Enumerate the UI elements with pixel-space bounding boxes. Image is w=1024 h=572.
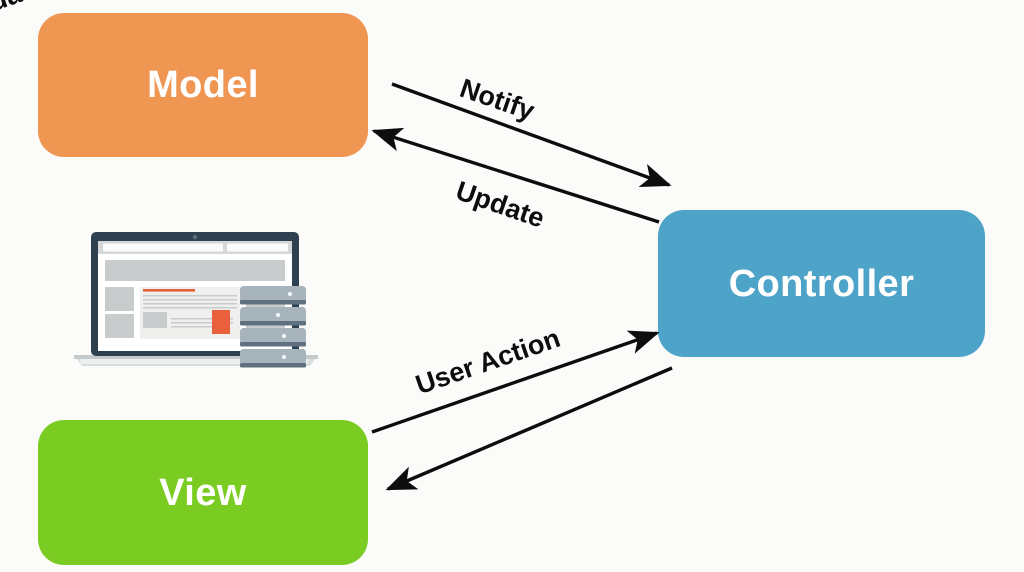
- edge-label-notify: Notify: [456, 73, 538, 127]
- node-model-label: Model: [147, 66, 259, 104]
- node-controller-label: Controller: [729, 265, 915, 303]
- edge-label-user-action: User Action: [412, 323, 564, 401]
- edge-label-update-top: Update: [452, 175, 549, 234]
- node-model[interactable]: Model: [38, 13, 368, 157]
- diagram-canvas: Model Controller View: [0, 0, 1024, 572]
- node-controller[interactable]: Controller: [658, 210, 985, 357]
- node-view[interactable]: View: [38, 420, 368, 565]
- laptop-server-illustration: [72, 224, 338, 376]
- node-view-label: View: [159, 474, 247, 512]
